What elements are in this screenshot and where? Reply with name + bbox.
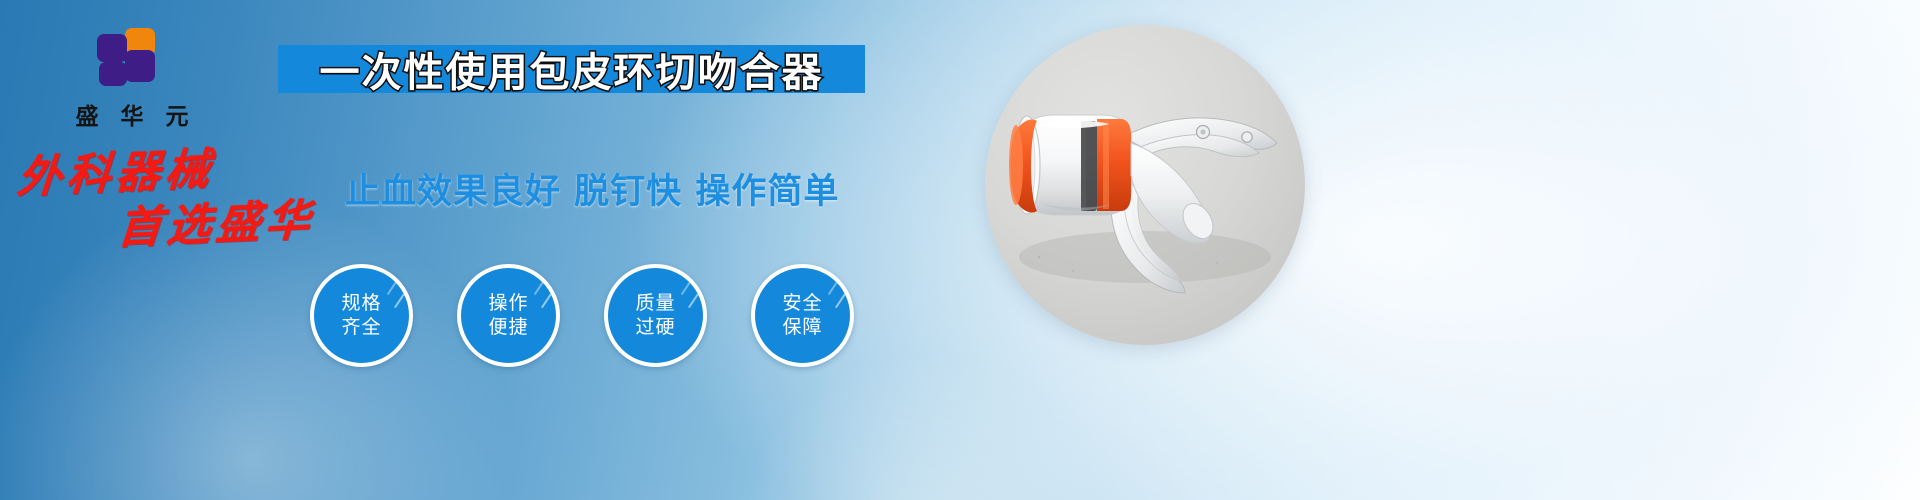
badge-label-line1: 规格 (341, 292, 381, 315)
gloss-highlight-small-icon (828, 281, 839, 295)
logo-block-connector (120, 52, 131, 61)
logo-block-purple-bottom (99, 62, 127, 86)
gloss-highlight-icon (394, 286, 410, 309)
shenghuayuan-blocks-logo-icon (97, 28, 167, 88)
gloss-highlight-icon (688, 286, 704, 309)
product-photo (985, 25, 1305, 345)
product-banner: 盛 华 元 外科器械 首选盛华 一次性使用包皮环切吻合器 止血效果良好 脱钉快 … (0, 0, 1920, 500)
feature-badge[interactable]: 操作 便捷 (457, 264, 560, 367)
disposable-circumcision-stapler-icon (985, 25, 1305, 345)
gloss-highlight-small-icon (534, 281, 545, 295)
badge-label-line2: 过硬 (635, 316, 675, 339)
badge-label-line1: 安全 (782, 292, 822, 315)
badge-label-line2: 齐全 (341, 316, 381, 339)
calligraphy-line-2: 首选盛华 (116, 199, 316, 252)
feature-badge-list: 规格 齐全 操作 便捷 质量 过硬 安全 保障 (310, 264, 854, 367)
gloss-highlight-small-icon (681, 281, 692, 295)
subtitle: 止血效果良好 脱钉快 操作简单 (345, 163, 839, 214)
feature-badge[interactable]: 规格 齐全 (310, 264, 413, 367)
page-title: 一次性使用包皮环切吻合器 (320, 40, 824, 98)
brand-name: 盛 华 元 (52, 97, 212, 131)
gloss-highlight-icon (541, 286, 557, 309)
badge-label-line2: 保障 (782, 316, 822, 339)
badge-label-line1: 操作 (488, 292, 528, 315)
title-bar: 一次性使用包皮环切吻合器 (278, 45, 865, 93)
feature-badge[interactable]: 质量 过硬 (604, 264, 707, 367)
badge-label-line2: 便捷 (488, 316, 528, 339)
badge-label-line1: 质量 (635, 292, 675, 315)
calligraphy-slogan: 外科器械 首选盛华 (18, 150, 314, 248)
calligraphy-line-1: 外科器械 (16, 144, 317, 202)
brand-logo-block: 盛 华 元 (52, 28, 212, 131)
gloss-highlight-small-icon (387, 281, 398, 295)
gloss-highlight-icon (835, 286, 851, 309)
feature-badge[interactable]: 安全 保障 (751, 264, 854, 367)
